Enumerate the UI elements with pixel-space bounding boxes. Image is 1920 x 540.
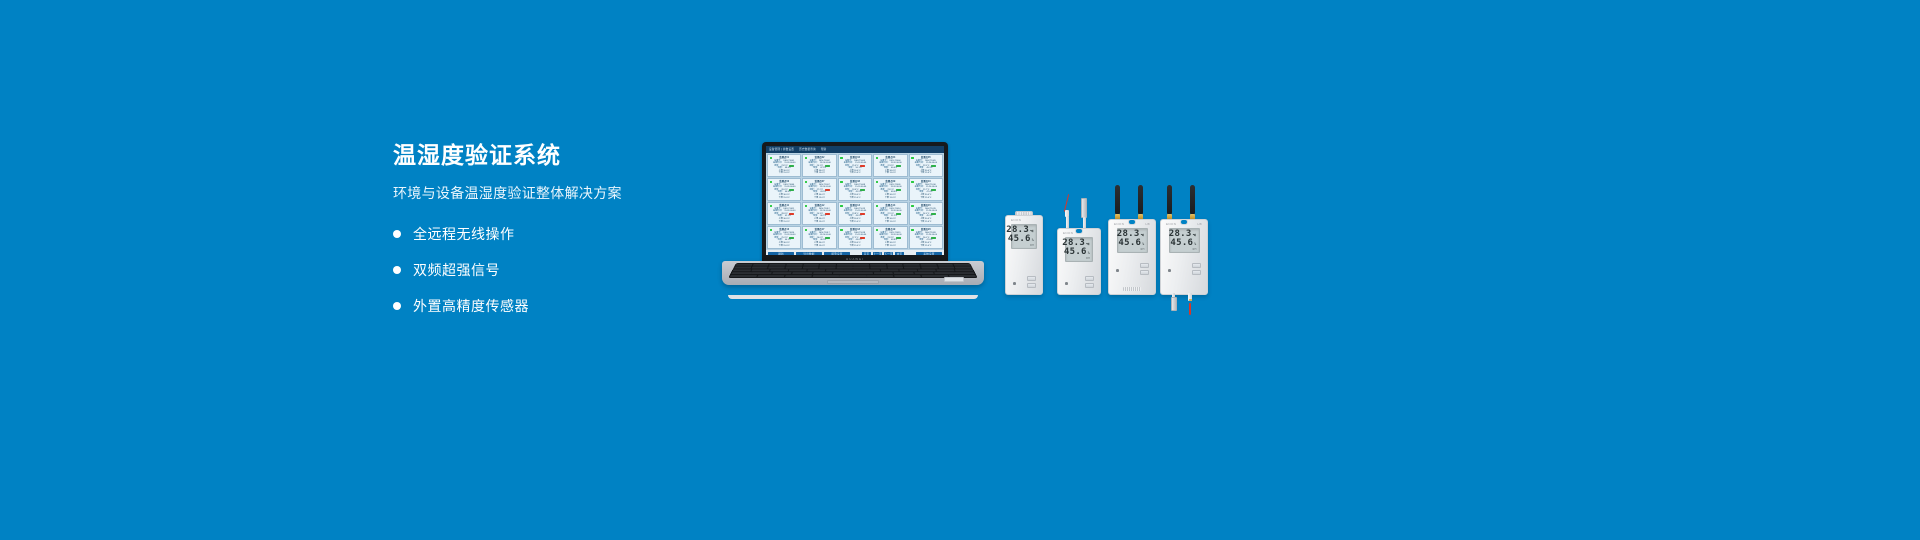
sensor-field-value: 下限 15.0℃ — [885, 221, 896, 224]
device-wireless-logger-dual-antenna: ENON H8 28.3 ℃ 45.6 % RH — [1108, 185, 1156, 295]
status-led-icon — [840, 229, 843, 232]
probe-sensor-icon — [1081, 198, 1087, 218]
laptop-trackpad[interactable] — [827, 280, 879, 284]
feature-label: 全远程无线操作 — [413, 224, 515, 244]
sensor-field-value: 下限 15.0℃ — [849, 197, 860, 200]
sensor-field-value: 下限 15.0℃ — [779, 197, 790, 200]
app-menu-item-history[interactable]: 历史数据查询 — [799, 146, 816, 153]
device-down-button[interactable] — [1085, 283, 1094, 288]
device-down-button[interactable] — [1027, 283, 1036, 288]
sensor-field-value: 下限 15.0℃ — [885, 172, 896, 175]
bullet-dot-icon — [393, 302, 401, 310]
antenna-left-icon — [1115, 185, 1120, 215]
sensor-card[interactable]: 监测点16设备号：DEV-T1016采集时间：15:20 00:00温度：25.… — [767, 226, 801, 249]
feature-item-3: 外置高精度传感器 — [393, 293, 723, 319]
sensor-lower-row: 下限 15.0℃ — [876, 172, 904, 175]
keyboard-row — [731, 272, 974, 274]
sensor-card-grid: 监测点01设备号：DEV-T1001采集时间：15:20 00:00温度：23.… — [766, 153, 944, 250]
device-button-group — [1140, 263, 1149, 275]
sensor-card[interactable]: 监测点04设备号：DEV-T1004采集时间：15:20 00:00温度：22.… — [873, 154, 907, 177]
lcd-humidity-value: 45.6 — [1064, 248, 1087, 257]
device-model-label: H8 — [1197, 222, 1202, 226]
laptop-screen: 设备管理 | 参数设置 历史数据查询 帮助 监测点01设备号：DEV-T1001… — [766, 146, 944, 255]
keyboard-key[interactable] — [730, 275, 758, 277]
sensor-field-value: 下限 15.0℃ — [849, 221, 860, 224]
sensor-lower-row: 下限 15.0℃ — [876, 197, 904, 200]
sensor-field-value: 下限 15.0℃ — [849, 172, 860, 175]
sensor-field-value: 下限 15.0℃ — [920, 172, 931, 175]
lcd-humidity-line: 45.6 % — [1068, 248, 1090, 257]
sensor-card[interactable]: 监测点11设备号：DEV-T1011采集时间：15:20 00:00温度：28.… — [767, 202, 801, 225]
sensor-card[interactable]: 监测点07设备号：DEV-T1007采集时间：15:20 00:00温度：27.… — [802, 178, 836, 201]
toolbar-export-button[interactable]: 导出数据 — [796, 252, 822, 256]
sensor-field-value: 下限 15.0℃ — [779, 221, 790, 224]
lcd-humidity-value: 45.6 — [1170, 239, 1193, 248]
sensor-field-value: 下限 15.0℃ — [814, 221, 825, 224]
bullet-dot-icon — [393, 230, 401, 238]
status-led-icon — [911, 205, 914, 208]
device-brand-label: ENON — [1063, 231, 1073, 235]
sensor-card[interactable]: 监测点08设备号：DEV-T1008采集时间：15:20 00:00温度：24.… — [838, 178, 872, 201]
lcd-humidity-unit: % — [1032, 238, 1034, 242]
sensor-lower-row: 下限 15.0℃ — [841, 172, 869, 175]
lcd-sub-label: RH — [1120, 248, 1145, 251]
sensor-lower-row: 下限 15.0℃ — [770, 245, 798, 248]
sensor-field-value: 下限 15.0℃ — [814, 197, 825, 200]
lcd-humidity-line: 45.6 % — [1120, 239, 1145, 248]
device-up-button[interactable] — [1140, 263, 1149, 268]
keyboard-key[interactable] — [914, 272, 934, 274]
hero-subtitle: 环境与设备温湿度验证整体解决方案 — [393, 183, 723, 203]
keyboard-key[interactable] — [853, 272, 873, 274]
keyboard-key[interactable] — [840, 275, 867, 277]
toolbar-refresh-button[interactable]: 刷新 — [768, 252, 794, 256]
keyboard-key[interactable] — [813, 272, 833, 274]
toolbar-alarm-button[interactable]: 报警设置 — [824, 252, 850, 256]
probe-wire-icon — [1189, 303, 1190, 315]
sensor-field-value: 下限 15.0℃ — [814, 172, 825, 175]
status-led-icon — [840, 205, 843, 208]
device-body: ENON 28.3 ℃ 45.6 % RH — [1005, 215, 1043, 295]
sensor-lower-row: 下限 15.0℃ — [841, 197, 869, 200]
device-button-group — [1027, 276, 1036, 288]
device-wireless-logger-basic: ENON 28.3 ℃ 45.6 % RH — [1005, 215, 1043, 295]
lcd-temperature-unit: ℃ — [1141, 233, 1145, 237]
device-brand-row: ENON — [1006, 216, 1042, 222]
sensor-lower-row: 下限 15.0℃ — [770, 172, 798, 175]
lcd-sub-label: RH — [1014, 244, 1034, 247]
sensor-lower-row: 下限 15.0℃ — [805, 221, 833, 224]
keyboard-key[interactable] — [785, 275, 812, 277]
sensor-card[interactable]: 监测点17设备号：DEV-T1017采集时间：15:20 00:00温度：26.… — [802, 226, 836, 249]
hero-copy: 温湿度验证系统 环境与设备温湿度验证整体解决方案 全远程无线操作 双频超强信号 … — [393, 142, 723, 329]
device-button-group — [1085, 276, 1094, 288]
sensor-lower-row: 下限 15.0℃ — [876, 245, 904, 248]
sensor-card[interactable]: 监测点20设备号：DEV-T1020采集时间：15:20 00:00温度：24.… — [909, 226, 943, 249]
antenna-left-icon — [1167, 185, 1172, 215]
hero-banner: 温湿度验证系统 环境与设备温湿度验证整体解决方案 全远程无线操作 双频超强信号 … — [0, 0, 1920, 540]
keyboard-key[interactable] — [752, 272, 772, 274]
app-menu-item-devices[interactable]: 设备管理 | 参数设置 — [769, 146, 794, 153]
sensor-card[interactable]: 监测点05设备号：DEV-T1005采集时间：15:20 00:00温度：23.… — [909, 154, 943, 177]
sensor-lower-row: 下限 15.0℃ — [876, 221, 904, 224]
probe-contact-icon — [1189, 299, 1192, 301]
bullet-dot-icon — [393, 266, 401, 274]
device-wireless-logger-probe: ENON 28.3 ℃ 45.6 % RH — [1057, 200, 1101, 295]
sensor-lower-row: 下限 15.0℃ — [841, 245, 869, 248]
antenna-right-icon — [1138, 185, 1143, 215]
sensor-lower-row: 下限 15.0℃ — [912, 221, 940, 224]
device-brand-label: ENON — [1114, 222, 1124, 226]
lcd-humidity-unit: % — [1194, 242, 1196, 246]
lcd-sub-label: RH — [1172, 248, 1197, 251]
sensor-lower-row: 下限 15.0℃ — [912, 197, 940, 200]
sensor-lower-row: 下限 15.0℃ — [805, 197, 833, 200]
status-led-icon — [911, 157, 914, 160]
sensor-field-value: 下限 15.0℃ — [920, 197, 931, 200]
lcd-humidity-value: 45.6 — [1008, 235, 1031, 244]
device-brand-label: ENON — [1011, 218, 1021, 222]
keyboard-key[interactable] — [894, 275, 921, 277]
device-lcd-display: 28.3 ℃ 45.6 % RH — [1065, 237, 1093, 262]
device-vent-icon — [1123, 287, 1141, 291]
device-model-label: H8 — [1145, 222, 1150, 226]
status-led-icon — [876, 157, 879, 160]
sensor-lower-row: 下限 15.0℃ — [770, 221, 798, 224]
device-down-button[interactable] — [1192, 270, 1201, 275]
keyboard-key[interactable] — [812, 275, 839, 277]
probe-sensor-icon — [1171, 297, 1177, 311]
sensor-lower-row: 下限 15.0℃ — [805, 245, 833, 248]
keyboard-key[interactable] — [731, 272, 751, 274]
pager-prev-button[interactable]: 上一页 — [873, 252, 882, 256]
device-hang-hole-icon — [1180, 219, 1188, 225]
sensor-field-value: 下限 15.0℃ — [849, 245, 860, 248]
sensor-field-value: 下限 15.0℃ — [920, 221, 931, 224]
laptop-lid: 设备管理 | 参数设置 历史数据查询 帮助 监测点01设备号：DEV-T1001… — [762, 142, 948, 262]
lcd-temperature-unit: ℃ — [1030, 229, 1034, 233]
lcd-humidity-line: 45.6 % — [1172, 239, 1197, 248]
device-body: ENON H8 28.3 ℃ 45.6 % RH — [1160, 219, 1208, 295]
pager-last-button[interactable]: 末页 — [895, 252, 904, 256]
sensor-card[interactable]: 监测点03设备号：DEV-T1003采集时间：15:20 00:00温度：25.… — [838, 154, 872, 177]
lcd-temperature-unit: ℃ — [1086, 242, 1090, 246]
keyboard-key[interactable] — [772, 272, 792, 274]
device-indicator-led — [1065, 282, 1068, 285]
app-menu-bar: 设备管理 | 参数设置 历史数据查询 帮助 — [766, 146, 944, 153]
feature-item-1: 全远程无线操作 — [393, 221, 723, 247]
sensor-card[interactable]: 监测点01设备号：DEV-T1001采集时间：15:20 00:00温度：23.… — [767, 154, 801, 177]
sensor-card[interactable]: 监测点06设备号：DEV-T1006采集时间：15:20 00:00温度：26.… — [767, 178, 801, 201]
sensor-card[interactable]: 监测点09设备号：DEV-T1009采集时间：15:20 00:00温度：23.… — [873, 178, 907, 201]
sensor-lower-row: 下限 15.0℃ — [805, 172, 833, 175]
antenna-right-icon — [1190, 185, 1195, 215]
status-led-icon — [840, 181, 843, 184]
sensor-lower-row: 下限 15.0℃ — [912, 172, 940, 175]
pager-first-button[interactable]: 首页 — [862, 252, 871, 256]
feature-label: 外置高精度传感器 — [413, 296, 529, 316]
device-button-group — [1192, 263, 1201, 275]
device-wireless-logger-dual-antenna-probe: ENON H8 28.3 ℃ 45.6 % RH — [1160, 185, 1208, 310]
lcd-humidity-unit: % — [1088, 251, 1090, 255]
keyboard-row — [730, 275, 976, 277]
status-led-icon — [770, 205, 773, 208]
keyboard-key[interactable] — [874, 272, 894, 274]
keyboard-key[interactable] — [757, 275, 784, 277]
keyboard-key[interactable] — [954, 272, 974, 274]
device-indicator-led — [1116, 269, 1119, 272]
laptop-base — [722, 261, 984, 285]
status-led-icon — [911, 229, 914, 232]
sensor-field-value: 下限 15.0℃ — [779, 245, 790, 248]
status-led-icon — [770, 181, 773, 184]
page-title: 温湿度验证系统 — [393, 142, 723, 170]
device-lcd-display: 28.3 ℃ 45.6 % RH — [1011, 224, 1037, 249]
app-menu-item-help[interactable]: 帮助 — [821, 146, 827, 153]
keyboard-key[interactable] — [792, 272, 812, 274]
device-up-button[interactable] — [1027, 276, 1036, 281]
feature-label: 双频超强信号 — [413, 260, 500, 280]
sensor-lower-row: 下限 15.0℃ — [770, 197, 798, 200]
status-led-icon — [840, 157, 843, 160]
sensor-lower-row: 下限 15.0℃ — [841, 221, 869, 224]
sensor-card[interactable]: 监测点10设备号：DEV-T1010采集时间：15:20 00:00温度：25.… — [909, 178, 943, 201]
feature-item-2: 双频超强信号 — [393, 257, 723, 283]
device-hang-hole-icon — [1128, 219, 1136, 225]
device-hang-hole-icon — [1075, 228, 1083, 234]
laptop-product-image: 设备管理 | 参数设置 历史数据查询 帮助 监测点01设备号：DEV-T1001… — [722, 142, 984, 297]
sensor-field-value: 下限 15.0℃ — [814, 245, 825, 248]
status-led-icon — [876, 181, 879, 184]
keyboard-key[interactable] — [833, 272, 853, 274]
feature-list: 全远程无线操作 双频超强信号 外置高精度传感器 — [393, 221, 723, 319]
sensor-card[interactable]: 监测点18设备号：DEV-T1018采集时间：15:20 00:00温度：27.… — [838, 226, 872, 249]
keyboard-key[interactable] — [867, 275, 894, 277]
laptop-base-foot — [728, 295, 978, 299]
status-led-icon — [911, 181, 914, 184]
sensor-card[interactable]: 监测点19设备号：DEV-T1019采集时间：15:20 00:00温度：23.… — [873, 226, 907, 249]
sensor-field-value: 下限 15.0℃ — [920, 245, 931, 248]
status-led-icon — [770, 229, 773, 232]
lcd-humidity-value: 45.6 — [1118, 239, 1141, 248]
app-toolbar: 刷新 导出数据 报警设置 首页 上一页 下一页 末页 系统设置 — [766, 250, 944, 255]
laptop-keyboard[interactable] — [728, 263, 978, 278]
device-body: ENON 28.3 ℃ 45.6 % RH — [1057, 228, 1101, 295]
device-lcd-display: 28.3 ℃ 45.6 % RH — [1117, 228, 1148, 253]
sensor-card[interactable]: 监测点15设备号：DEV-T1015采集时间：15:20 00:00温度：24.… — [909, 202, 943, 225]
keyboard-key[interactable] — [894, 272, 914, 274]
sensor-card[interactable]: 监测点12设备号：DEV-T1012采集时间：15:20 00:00温度：24.… — [802, 202, 836, 225]
sensor-field-value: 下限 15.0℃ — [885, 245, 896, 248]
lcd-temperature-unit: ℃ — [1193, 233, 1197, 237]
device-body: ENON H8 28.3 ℃ 45.6 % RH — [1108, 219, 1156, 295]
sensor-field-value: 下限 15.0℃ — [779, 172, 790, 175]
pager-next-button[interactable]: 下一页 — [884, 252, 893, 256]
device-indicator-led — [1013, 282, 1016, 285]
device-indicator-led — [1168, 269, 1171, 272]
sensor-card[interactable]: 监测点14设备号：DEV-T1014采集时间：15:20 00:00温度：22.… — [873, 202, 907, 225]
sensor-card[interactable]: 监测点13设备号：DEV-T1013采集时间：15:20 00:00温度：23.… — [838, 202, 872, 225]
sensor-field-value: 下限 15.0℃ — [885, 197, 896, 200]
sensor-card[interactable]: 监测点02设备号：DEV-T1002采集时间：15:20 00:00温度：24.… — [802, 154, 836, 177]
lcd-sub-label: RH — [1068, 257, 1090, 260]
device-down-button[interactable] — [1140, 270, 1149, 275]
sensor-lower-row: 下限 15.0℃ — [912, 245, 940, 248]
lcd-humidity-line: 45.6 % — [1014, 235, 1034, 244]
device-brand-label: ENON — [1166, 222, 1176, 226]
toolbar-settings-button[interactable]: 系统设置 — [916, 252, 942, 256]
status-led-icon — [770, 157, 773, 160]
device-lcd-display: 28.3 ℃ 45.6 % RH — [1169, 228, 1200, 253]
lcd-humidity-unit: % — [1142, 242, 1144, 246]
device-up-button[interactable] — [1192, 263, 1201, 268]
keyboard-key[interactable] — [934, 272, 954, 274]
laptop-power-badge — [944, 277, 964, 282]
device-up-button[interactable] — [1085, 276, 1094, 281]
